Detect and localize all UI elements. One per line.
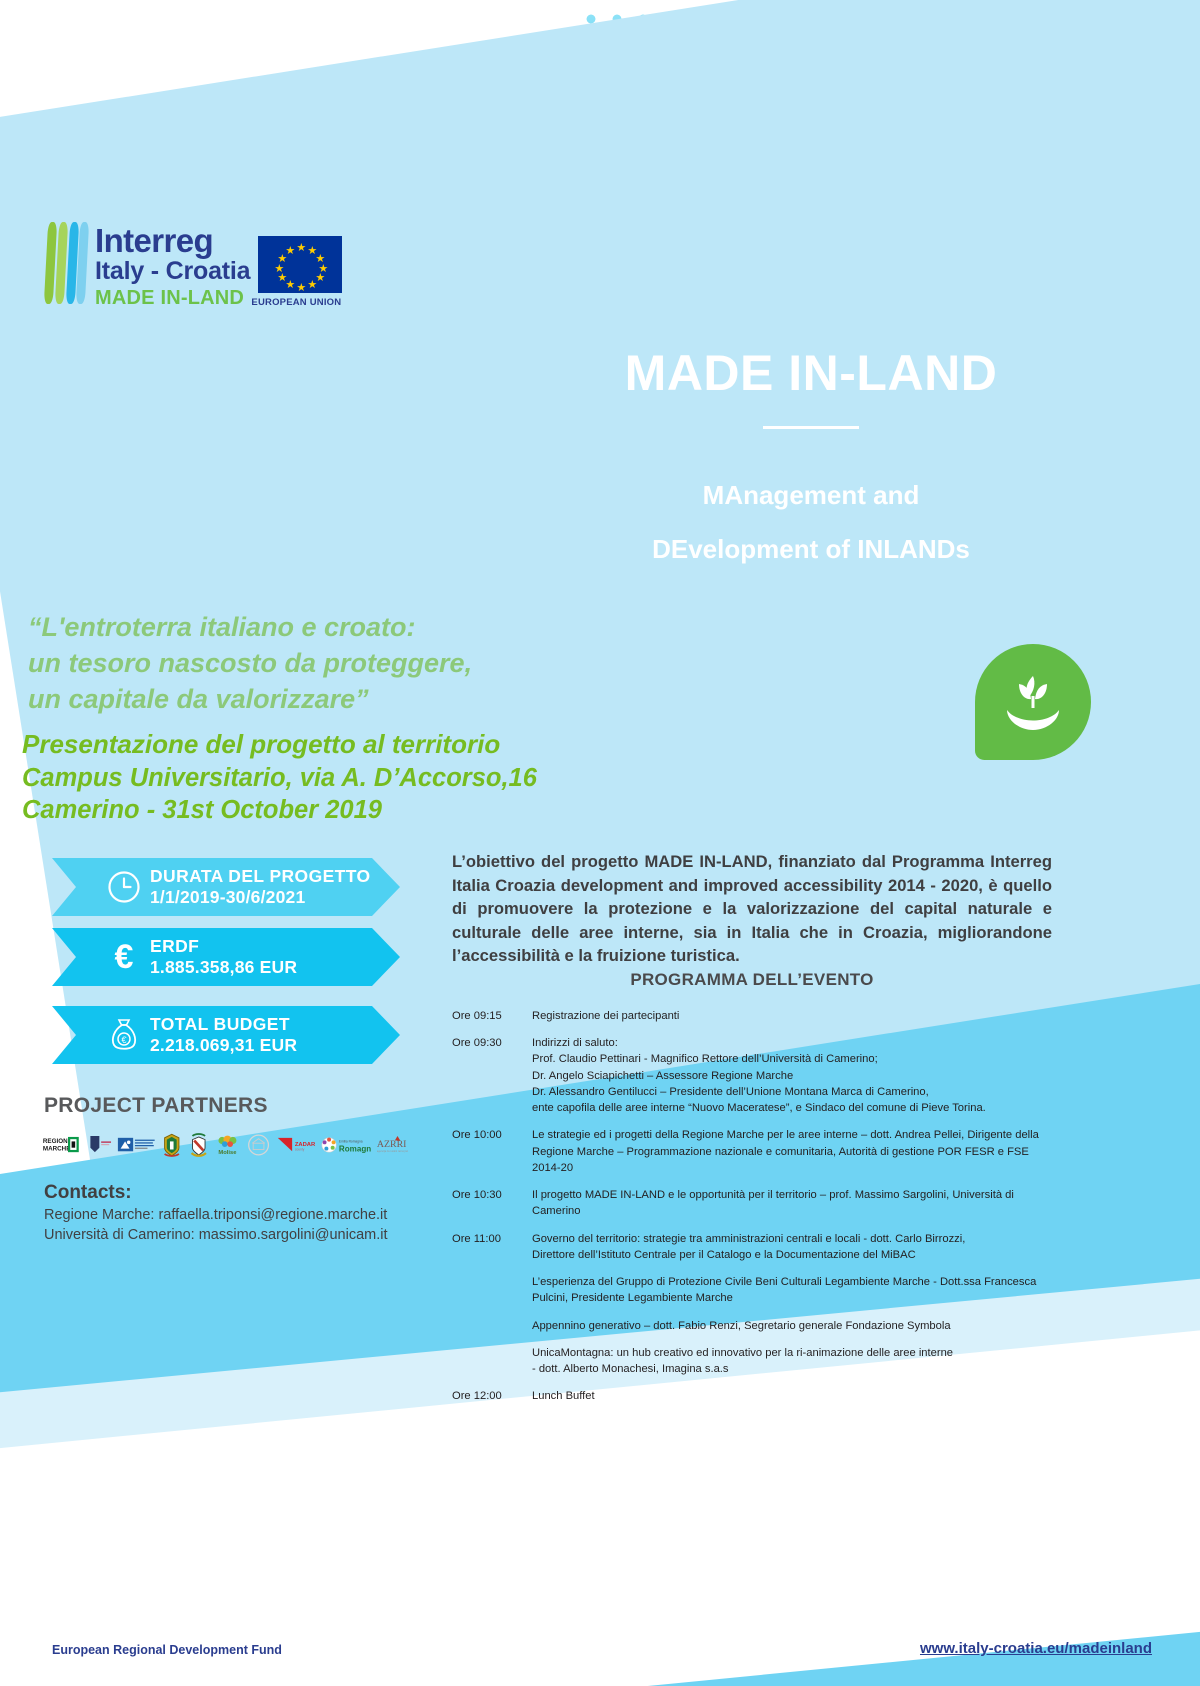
quote-line-1: “L'entroterra italiano e croato: xyxy=(28,610,548,646)
eu-caption-text: EUROPEAN UNION xyxy=(250,297,342,308)
event-details: Presentazione del progetto al territorio… xyxy=(22,728,622,827)
schedule-description: L’esperienza del Gruppo di Protezione Ci… xyxy=(532,1274,1072,1306)
contact-line-unicam: Università di Camerino: massimo.sargolin… xyxy=(44,1226,444,1246)
schedule-description: Indirizzi di saluto:Prof. Claudio Pettin… xyxy=(532,1035,1072,1116)
event-line-1: Presentazione del progetto al territorio xyxy=(22,728,622,762)
schedule-description: Registrazione dei partecipanti xyxy=(532,1008,1072,1024)
svg-text:AZRRI: AZRRI xyxy=(377,1139,407,1150)
logo-project-text: MADE IN-LAND xyxy=(95,285,250,311)
schedule-line: Appennino generativo – dott. Fabio Renzi… xyxy=(532,1318,1072,1334)
partner-logo-archeologia xyxy=(117,1131,156,1159)
schedule-row: L’esperienza del Gruppo di Protezione Ci… xyxy=(452,1274,1072,1306)
tagline-quote: “L'entroterra italiano e croato: un teso… xyxy=(28,610,548,718)
schedule-line: Dr. Angelo Sciapichetti – Assessore Regi… xyxy=(532,1068,1072,1084)
schedule-description: Le strategie ed i progetti della Regione… xyxy=(532,1127,1072,1176)
banner-erdf: € ERDF 1.885.358,86 EUR xyxy=(52,928,400,986)
schedule-description: UnicaMontagna: un hub creativo ed innova… xyxy=(532,1345,1072,1377)
banner-erdf-text: ERDF 1.885.358,86 EUR xyxy=(150,936,297,978)
schedule-row: Ore 11:00Governo del territorio: strateg… xyxy=(452,1231,1072,1263)
schedule-description: Governo del territorio: strategie tra am… xyxy=(532,1231,1072,1263)
partner-logo-universita xyxy=(85,1131,112,1159)
banner-duration-label: DURATA DEL PROGETTO xyxy=(150,866,371,887)
banner-total-budget: € TOTAL BUDGET 2.218.069,31 EUR xyxy=(52,1006,400,1064)
schedule-line: Governo del territorio: strategie tra am… xyxy=(532,1231,1072,1247)
schedule-time: Ore 10:00 xyxy=(452,1127,532,1176)
event-line-2: Campus Universitario, via A. D’Accorso,1… xyxy=(22,762,622,795)
partner-logo-comune-a xyxy=(161,1131,183,1159)
clock-icon xyxy=(98,870,150,904)
svg-text:€: € xyxy=(121,1035,126,1045)
partner-logos-row: REGIONE MARCHE xyxy=(42,1128,408,1162)
hero-subtitle-line1: MAnagement and xyxy=(505,480,1117,511)
banner-budget-value: 2.218.069,31 EUR xyxy=(150,1035,297,1056)
eu-emblem: ★ ★ ★ ★ ★ ★ ★ ★ ★ ★ ★ ★ EUROPEAN UNION xyxy=(250,222,342,308)
schedule-line: 2014-20 xyxy=(532,1160,1072,1176)
euro-icon: € xyxy=(98,940,150,974)
interreg-wordmark: Interreg Italy - Croatia MADE IN-LAND xyxy=(95,222,250,311)
schedule-row: Ore 09:15Registrazione dei partecipanti xyxy=(452,1008,1072,1024)
schedule-time xyxy=(452,1345,532,1377)
schedule-time: Ore 10:30 xyxy=(452,1187,532,1219)
schedule-time: Ore 09:15 xyxy=(452,1008,532,1024)
banner-erdf-value: 1.885.358,86 EUR xyxy=(150,957,297,978)
project-description: L’obiettivo del progetto MADE IN-LAND, f… xyxy=(452,850,1052,968)
schedule-description: Il progetto MADE IN-LAND e le opportunit… xyxy=(532,1187,1072,1219)
svg-text:Romagna: Romagna xyxy=(338,1144,370,1153)
partner-logo-comune-b xyxy=(188,1131,210,1159)
contact-line-regione-marche: Regione Marche: raffaella.triponsi@regio… xyxy=(44,1206,444,1226)
eu-flag-icon: ★ ★ ★ ★ ★ ★ ★ ★ ★ ★ ★ ★ xyxy=(258,236,342,293)
schedule-row: Ore 12:00Lunch Buffet xyxy=(452,1388,1072,1404)
hero-subtitle-line2: DEvelopment of INLANDs xyxy=(505,534,1117,565)
schedule-line: Lunch Buffet xyxy=(532,1388,1072,1404)
interreg-waves-icon xyxy=(46,222,86,304)
quote-line-2: un tesoro nascosto da proteggere, xyxy=(28,646,548,682)
schedule-description: Appennino generativo – dott. Fabio Renzi… xyxy=(532,1318,1072,1334)
schedule-row: Ore 09:30Indirizzi di saluto:Prof. Claud… xyxy=(452,1035,1072,1116)
schedule-line: L’esperienza del Gruppo di Protezione Ci… xyxy=(532,1274,1072,1290)
interreg-logo: Interreg Italy - Croatia MADE IN-LAND ★ … xyxy=(46,222,342,311)
schedule-time: Ore 09:30 xyxy=(452,1035,532,1116)
schedule-line: Regione Marche – Programmazione nazional… xyxy=(532,1144,1072,1160)
schedule-row: Appennino generativo – dott. Fabio Renzi… xyxy=(452,1318,1072,1334)
svg-text:Emilia Romagna: Emilia Romagna xyxy=(338,1139,362,1143)
banner-duration-text: DURATA DEL PROGETTO 1/1/2019-30/6/2021 xyxy=(150,866,371,908)
partner-logo-ente xyxy=(246,1131,271,1159)
schedule-line: Direttore dell’Istituto Centrale per il … xyxy=(532,1247,1072,1263)
banner-budget-text: TOTAL BUDGET 2.218.069,31 EUR xyxy=(150,1014,297,1056)
logo-countries-text: Italy - Croatia xyxy=(95,257,250,285)
footer-erdf-text: European Regional Development Fund xyxy=(52,1643,282,1657)
partner-logo-emilia-romagna: Emilia Romagna Romagna xyxy=(321,1131,371,1159)
partner-logo-azrri: AZRRI agencija za ruralni razvoj istre xyxy=(376,1131,408,1159)
partner-logo-zadar: ZADAR county xyxy=(276,1131,315,1159)
schedule-row: UnicaMontagna: un hub creativo ed innova… xyxy=(452,1345,1072,1377)
schedule-line: UnicaMontagna: un hub creativo ed innova… xyxy=(532,1345,1072,1361)
schedule-line: Pulcini, Presidente Legambiente Marche xyxy=(532,1290,1072,1306)
logo-interreg-text: Interreg xyxy=(95,224,250,257)
title-divider xyxy=(763,426,859,429)
banner-project-duration: DURATA DEL PROGETTO 1/1/2019-30/6/2021 xyxy=(52,858,400,916)
quote-line-3: un capitale da valorizzare” xyxy=(28,682,548,718)
schedule-line: Registrazione dei partecipanti xyxy=(532,1008,1072,1024)
schedule-line: Il progetto MADE IN-LAND e le opportunit… xyxy=(532,1187,1072,1203)
page-title: MADE IN-LAND xyxy=(505,344,1117,402)
schedule-time: Ore 11:00 xyxy=(452,1231,532,1263)
schedule-line: Dr. Alessandro Gentilucci – Presidente d… xyxy=(532,1084,1072,1100)
banner-duration-value: 1/1/2019-30/6/2021 xyxy=(150,887,371,908)
schedule-line: - dott. Alberto Monachesi, Imagina s.a.s xyxy=(532,1361,1072,1377)
partners-heading: PROJECT PARTNERS xyxy=(44,1094,268,1118)
schedule-line: Indirizzi di saluto: xyxy=(532,1035,1072,1051)
schedule-row: Ore 10:30Il progetto MADE IN-LAND e le o… xyxy=(452,1187,1072,1219)
schedule-time: Ore 12:00 xyxy=(452,1388,532,1404)
event-line-3: Camerino - 31st October 2019 xyxy=(22,794,622,827)
banner-erdf-label: ERDF xyxy=(150,936,297,957)
partner-logo-regione-marche: REGIONE MARCHE xyxy=(42,1131,80,1159)
footer-website-link[interactable]: www.italy-croatia.eu/madeinland xyxy=(920,1640,1152,1657)
contacts-heading: Contacts: xyxy=(44,1182,444,1204)
banner-budget-label: TOTAL BUDGET xyxy=(150,1014,297,1035)
svg-text:county: county xyxy=(295,1147,305,1151)
svg-text:MARCHE: MARCHE xyxy=(43,1145,71,1152)
money-bag-icon: € xyxy=(98,1017,150,1053)
schedule-description: Lunch Buffet xyxy=(532,1388,1072,1404)
schedule-time xyxy=(452,1318,532,1334)
schedule-line: ente capofila delle aree interne “Nuovo … xyxy=(532,1100,1072,1116)
schedule-line: Le strategie ed i progetti della Regione… xyxy=(532,1127,1072,1143)
svg-text:REGIONE: REGIONE xyxy=(43,1138,72,1145)
schedule-line: Camerino xyxy=(532,1203,1072,1219)
schedule-line: Prof. Claudio Pettinari - Magnifico Rett… xyxy=(532,1051,1072,1067)
programme-schedule: Ore 09:15Registrazione dei partecipantiO… xyxy=(452,1008,1072,1415)
programme-heading: PROGRAMMA DELL’EVENTO xyxy=(452,970,1052,990)
svg-text:agencija za ruralni razvoj ist: agencija za ruralni razvoj istre xyxy=(377,1150,408,1153)
partner-logo-molise: Molise xyxy=(214,1131,241,1159)
schedule-time xyxy=(452,1274,532,1306)
svg-text:Molise: Molise xyxy=(218,1150,237,1156)
schedule-row: Ore 10:00Le strategie ed i progetti dell… xyxy=(452,1127,1072,1176)
contacts-block: Contacts: Regione Marche: raffaella.trip… xyxy=(44,1182,444,1245)
